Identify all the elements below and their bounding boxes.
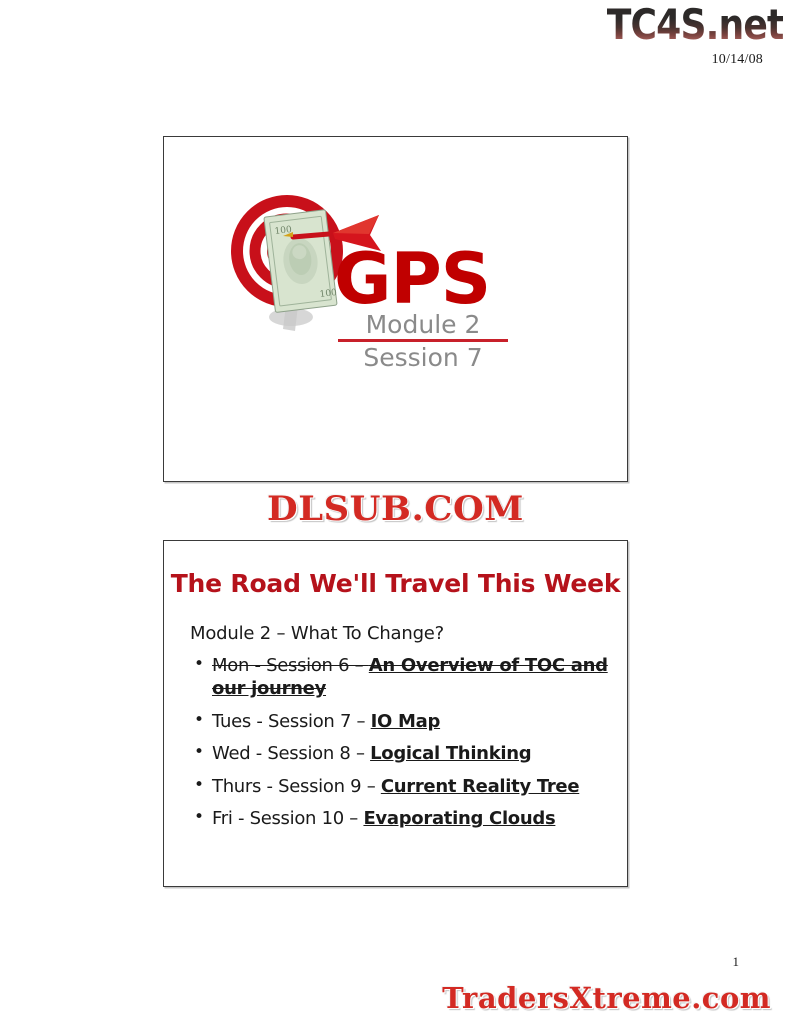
agenda-item-day: Tues - Session 7 – [212,711,371,732]
watermark-dlsub-text: DLSUB.COM [267,489,524,529]
agenda-list-item: Wed - Session 8 – Logical Thinking [190,742,609,765]
agenda-list-item: Thurs - Session 9 – Current Reality Tree [190,775,609,798]
header-branding: TC4S.net 10/14/08 [578,4,783,67]
watermark-tradersxtreme-text: TradersXtreme.com [442,981,771,1015]
agenda-item-topic: Evaporating Clouds [363,808,555,829]
header-date: 10/14/08 [578,53,763,67]
agenda-list-item: Fri - Session 10 – Evaporating Clouds [190,807,609,830]
agenda-item-topic: IO Map [371,711,440,732]
agenda-item-day: Mon - Session 6 – [212,655,369,676]
agenda-item-topic: Logical Thinking [370,743,531,764]
gps-letters: GPS [332,247,632,311]
tc4s-brand-text: TC4S.net [606,4,783,46]
gps-logo-block: 100 100 GPS Module 2 Session 7 [164,189,627,429]
gps-session-label: Session 7 [338,342,508,373]
agenda-list-item: Mon - Session 6 – An Overview of TOC and… [190,654,609,701]
slide-agenda-page: The Road We'll Travel This Week Module 2… [163,540,628,887]
agenda-item-day: Wed - Session 8 – [212,743,370,764]
agenda-list: Mon - Session 6 – An Overview of TOC and… [190,654,609,830]
watermark-dlsub: DLSUB.COM [0,489,791,529]
agenda-item-day: Fri - Session 10 – [212,808,363,829]
watermark-tradersxtreme: TradersXtreme.com [442,981,771,1016]
agenda-intro: Module 2 – What To Change? [190,623,609,644]
agenda-item-day: Thurs - Session 9 – [212,776,381,797]
agenda-list-item: Tues - Session 7 – IO Map [190,710,609,733]
slide-title-page: 100 100 GPS Module 2 Session 7 [163,136,628,482]
agenda-item-topic: Current Reality Tree [381,776,579,797]
gps-wordmark-block: GPS Module 2 Session 7 [332,247,632,373]
gps-subtitle-block: Module 2 Session 7 [338,311,508,373]
page-number: 1 [733,954,740,970]
agenda-body: Module 2 – What To Change? Mon - Session… [190,623,609,839]
agenda-title: The Road We'll Travel This Week [164,569,627,598]
